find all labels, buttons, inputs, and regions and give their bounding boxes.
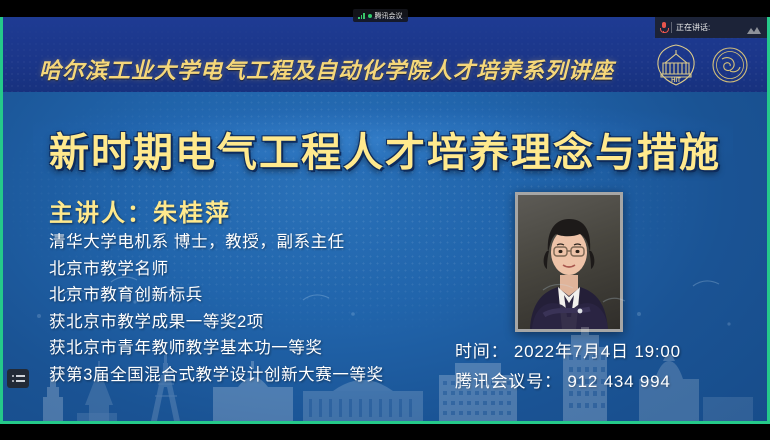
tencent-meeting-label: 腾讯会议: [375, 11, 403, 21]
microphone-muted-icon: [660, 22, 667, 33]
green-status-dot-icon: [368, 14, 372, 18]
meeting-time: 时间： 2022年7月4日 19:00: [455, 337, 681, 367]
participants-list-button[interactable]: [7, 369, 29, 388]
signal-bars-icon: [358, 13, 365, 19]
list-row-icon: [12, 380, 25, 382]
shared-slide: 哈尔滨工业大学电气工程及自动化学院人才培养系列讲座 HIT: [3, 17, 767, 421]
svg-text:HIT: HIT: [671, 78, 681, 84]
speaker-bio-list: 清华大学电机系 博士，教授，副系主任 北京市教学名师 北京市教育创新标兵 获北京…: [49, 229, 479, 388]
organization-headline: 哈尔滨工业大学电气工程及自动化学院人才培养系列讲座: [39, 53, 629, 85]
tencent-meeting-status-badge[interactable]: 腾讯会议: [353, 9, 408, 22]
speaker-name: 主讲人：朱桂萍: [49, 193, 231, 228]
bio-line: 北京市教育创新标兵: [49, 282, 479, 309]
logo-group: HIT: [655, 43, 751, 92]
bio-line: 北京市教学名师: [49, 256, 479, 283]
bio-line: 获第3届全国混合式教学设计创新大赛一等奖: [49, 362, 479, 389]
hit-university-emblem-icon: HIT: [655, 43, 697, 92]
list-row-icon: [12, 375, 25, 377]
speaking-indicator-bar[interactable]: 正在讲话:: [655, 17, 767, 38]
slide-main-title: 新时期电气工程人才培养理念与措施: [3, 120, 767, 178]
bio-line: 清华大学电机系 博士，教授，副系主任: [49, 229, 479, 256]
video-thumbnail-icon[interactable]: [746, 22, 762, 33]
speaker-portrait: [515, 192, 623, 332]
bottom-black-bar: [0, 424, 770, 440]
meeting-screen: 哈尔滨工业大学电气工程及自动化学院人才培养系列讲座 HIT: [0, 0, 770, 440]
divider: [671, 22, 672, 33]
speaking-label: 正在讲话:: [676, 22, 742, 33]
department-circular-emblem-icon: [709, 43, 751, 92]
bio-line: 获北京市教学成果一等奖2项: [49, 309, 479, 336]
meeting-info: 时间： 2022年7月4日 19:00 腾讯会议号： 912 434 994: [455, 337, 681, 397]
bio-line: 获北京市青年教师教学基本功一等奖: [49, 335, 479, 362]
meeting-id: 腾讯会议号： 912 434 994: [455, 367, 681, 397]
